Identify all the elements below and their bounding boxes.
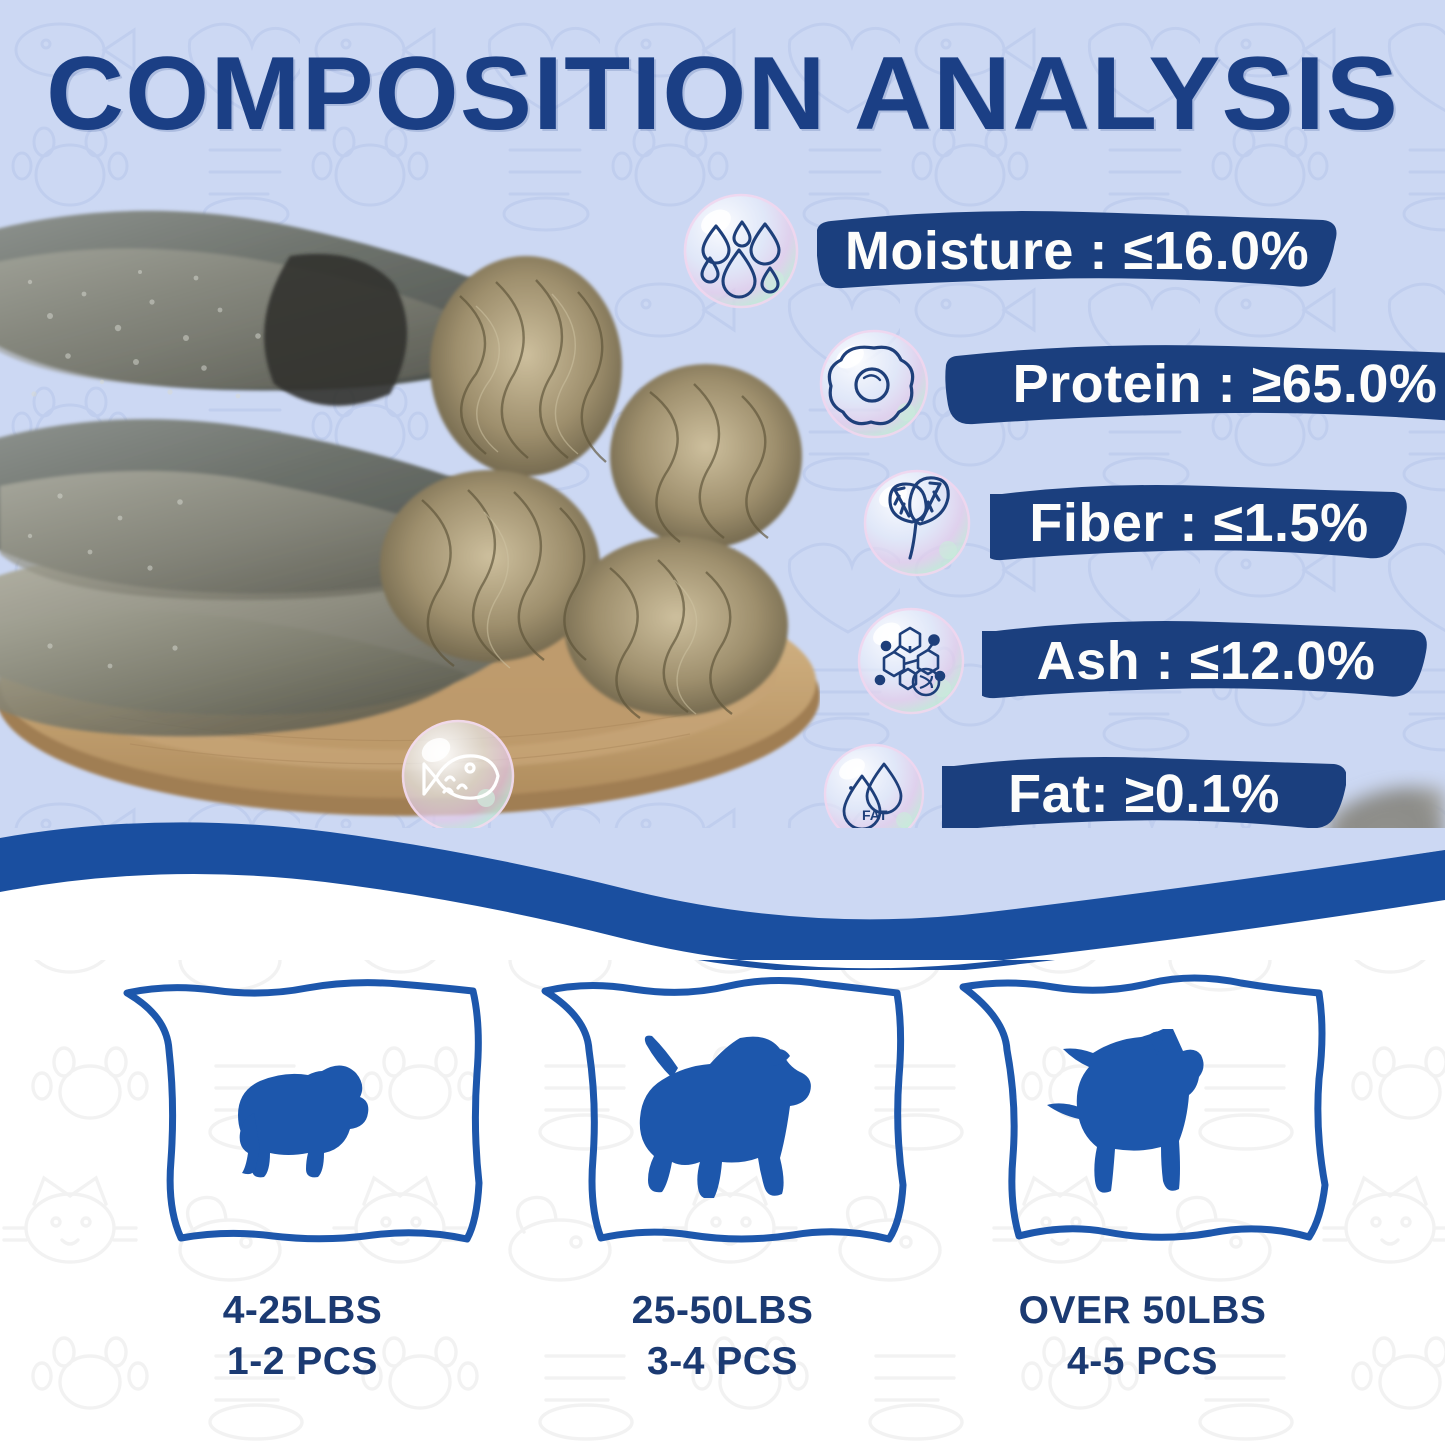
infographic-canvas: COMPOSITION ANALYSIS — [0, 0, 1445, 1445]
composition-row-fiber: Fiber : ≤1.5% — [862, 468, 1408, 578]
feed-card-large[interactable]: OVER 50LBS 4-5 PCS — [933, 965, 1353, 1435]
fried-egg-icon — [818, 328, 930, 440]
banner-moisture: Moisture : ≤16.0% — [817, 205, 1337, 297]
banner-protein: Protein : ≥65.0% — [944, 338, 1445, 430]
feed-card-label-large: OVER 50LBS 4-5 PCS — [933, 1285, 1353, 1388]
water-drops-icon — [682, 192, 800, 310]
feed-card-label-small: 4-25LBS 1-2 PCS — [93, 1285, 513, 1388]
feed-card-label-medium: 25-50LBS 3-4 PCS — [513, 1285, 933, 1388]
feed-card-medium[interactable]: 25-50LBS 3-4 PCS — [513, 965, 933, 1435]
composition-section: COMPOSITION ANALYSIS — [0, 0, 1445, 900]
wave-divider — [0, 780, 1445, 970]
feed-card-small[interactable]: 4-25LBS 1-2 PCS — [93, 965, 513, 1435]
medium-dog-icon — [513, 1003, 933, 1223]
leaf-sprout-icon — [862, 468, 972, 578]
feeding-guide-cards: 4-25LBS 1-2 PCS 25-50LBS — [0, 965, 1445, 1435]
composition-row-moisture: Moisture : ≤16.0% — [682, 192, 1337, 310]
small-dog-icon — [93, 1003, 513, 1223]
banner-fiber: Fiber : ≤1.5% — [990, 478, 1408, 568]
banner-ash: Ash : ≤12.0% — [982, 615, 1430, 707]
large-dog-icon — [933, 1003, 1353, 1223]
composition-row-protein: Protein : ≥65.0% — [818, 328, 1445, 440]
page-title: COMPOSITION ANALYSIS — [0, 42, 1445, 146]
molecule-icon — [856, 606, 966, 716]
composition-row-ash: Ash : ≤12.0% — [856, 606, 1430, 716]
